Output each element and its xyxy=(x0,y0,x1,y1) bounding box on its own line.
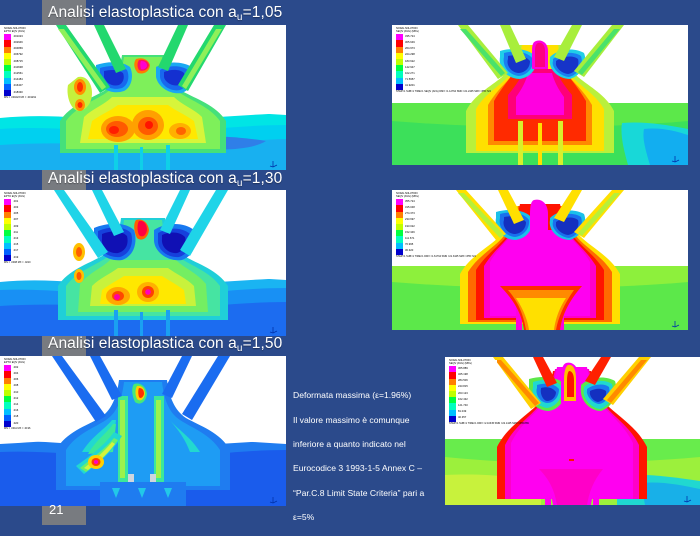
legend-value: 81.049 xyxy=(458,411,466,414)
legend-value: .013 xyxy=(13,238,18,241)
legend-swatch xyxy=(396,84,403,90)
axis-triad-icon xyxy=(671,315,680,324)
deformation-note-block: Deformata massima (ε=1.96%) Il valore ma… xyxy=(293,377,443,536)
note-line-5: “Par.C.8 Limit State Criteria” pari a xyxy=(293,487,443,499)
legend-value: .006 xyxy=(13,379,18,382)
legend-rows: .001 .003 .005 .007 .009 .011 .013 .015 … xyxy=(4,199,44,261)
legend-value: 162.432 xyxy=(458,399,468,402)
legend-value: 142.947 xyxy=(405,67,415,70)
legend-row: 30.320 xyxy=(396,249,444,255)
page-number: 21 xyxy=(49,502,63,517)
legend-row: 40.357 xyxy=(449,416,497,422)
legend-subtitle: EPTO EQV (AVG) xyxy=(4,362,44,365)
legend-value: .014 xyxy=(13,404,18,407)
legend-value: .003 xyxy=(13,207,18,210)
legend-value: 233.697 xyxy=(405,219,415,222)
legend-value: .002946 xyxy=(13,42,23,45)
note-line-6: ε=5% xyxy=(293,511,443,523)
legend-rows: 355.724 315.048 274.373 233.697 193.022 … xyxy=(396,199,444,255)
legend-value: 325.198 xyxy=(458,374,468,377)
legend-value: 203.123 xyxy=(458,393,468,396)
legend-value: .007 xyxy=(13,219,18,222)
legend-value: 243.815 xyxy=(458,386,468,389)
legend-value: .010638 xyxy=(13,67,23,70)
note-line-1: Deformata massima (ε=1.96%) xyxy=(293,389,443,401)
legend-value: .011 xyxy=(13,232,18,235)
legend-subtitle: EPTO EQV (AVG) xyxy=(4,31,44,34)
legend-subtitle: SEQV (AVG) (MPa) xyxy=(396,196,444,199)
note-line-3: inferiore a quanto indicato nel xyxy=(293,438,443,450)
slide-title-row1: Analisi elastoplastica con au=1,05 xyxy=(48,4,282,23)
legend-value: .001023 xyxy=(13,36,23,39)
legend-stress-au-150: NODAL SOLUTION SEQV (AVG) (MPa) 365.889 … xyxy=(449,360,497,425)
legend-value: .017 xyxy=(13,250,18,253)
legend-value: 274.373 xyxy=(405,213,415,216)
legend-subtitle: SEQV (AVG) (MPa) xyxy=(396,31,444,34)
legend-strain-au-105: NODAL SOLUTION EPTO EQV (AVG) .001023 .0… xyxy=(4,28,44,100)
legend-value: .008715 xyxy=(13,61,23,64)
legend-stress-au-105: NODAL SOLUTION SEQV (AVG) (MPa) 335.724 … xyxy=(396,28,444,93)
legend-value: 315.048 xyxy=(405,207,415,210)
legend-value: .005 xyxy=(13,213,18,216)
note-line-2: Il valore massimo è comunque xyxy=(293,414,443,426)
axis-triad-icon xyxy=(269,491,278,500)
legend-value: .002 xyxy=(13,367,18,370)
legend-value: .004 xyxy=(13,373,18,376)
axis-triad-icon xyxy=(269,321,278,330)
legend-value: .016407 xyxy=(13,85,23,88)
legend-value: 111.671 xyxy=(405,238,414,241)
legend-value: 102.271 xyxy=(405,73,415,76)
legend-value: 335.724 xyxy=(405,36,415,39)
legend-value: 121.740 xyxy=(458,405,468,408)
legend-value: .015 xyxy=(13,244,18,247)
axis-triad-icon xyxy=(683,490,692,499)
axis-triad-icon xyxy=(269,155,278,164)
legend-footer: MN = .001023 MX = .019291 xyxy=(4,97,44,100)
legend-value: 284.506 xyxy=(458,380,468,383)
legend-value: 152.346 xyxy=(405,232,415,235)
legend-value: 183.622 xyxy=(405,61,415,64)
slide-title-row3: Analisi elastoplastica con au=1,50 xyxy=(48,335,282,354)
legend-value: .001 xyxy=(13,201,18,204)
legend-value: 40.357 xyxy=(458,417,466,420)
legend-rows: .002 .004 .006 .008 .010 .012 .014 .016 … xyxy=(4,365,44,427)
legend-value: 193.022 xyxy=(405,226,415,229)
legend-value: 305.649 xyxy=(405,42,415,45)
legend-footer: STEP=1 SUB=1 TIME=1 DMX =1.61764 SMN =21… xyxy=(396,256,444,259)
legend-value: 355.724 xyxy=(405,201,415,204)
legend-swatch xyxy=(449,416,456,422)
legend-value: 41.9201 xyxy=(405,85,415,88)
legend-value: .014484 xyxy=(13,79,23,82)
legend-value: 224.298 xyxy=(405,54,415,57)
legend-rows: 335.724 305.649 264.973 224.298 183.622 … xyxy=(396,34,444,90)
legend-value: .009 xyxy=(13,226,18,229)
legend-value: .004869 xyxy=(13,48,23,51)
legend-value: .010 xyxy=(13,392,18,395)
legend-value: 365.889 xyxy=(458,368,468,371)
legend-value: .006792 xyxy=(13,54,23,57)
slide-title-row2: Analisi elastoplastica con au=1,30 xyxy=(48,170,282,189)
legend-value: .020 xyxy=(13,423,18,426)
legend-subtitle: SEQV (AVG) (MPa) xyxy=(449,363,497,366)
legend-strain-au-130: NODAL SOLUTION EPTO EQV (AVG) .001 .003 … xyxy=(4,193,44,265)
legend-value: .018 xyxy=(13,416,18,419)
legend-footer: MN = .0008 MX = .0210 xyxy=(4,262,44,265)
legend-value: 30.320 xyxy=(405,250,413,253)
legend-value: 264.973 xyxy=(405,48,415,51)
legend-footer: STEP=1 SUB=1 TIME=1 SEQV (AVG) DMX =1.12… xyxy=(396,91,444,94)
legend-value: .012 xyxy=(13,398,18,401)
legend-swatch xyxy=(396,249,403,255)
legend-footer: MN = .0011 MX = .0196 xyxy=(4,428,44,431)
legend-row: 41.9201 xyxy=(396,84,444,90)
note-line-4: Eurocodice 3 1993-1-5 Annex C – xyxy=(293,462,443,474)
legend-value: 70.995 xyxy=(405,244,413,247)
legend-value: 71.5957 xyxy=(405,79,415,82)
legend-strain-au-150: NODAL SOLUTION EPTO EQV (AVG) .002 .004 … xyxy=(4,359,44,431)
slide-canvas: Analisi elastoplastica con au=1,05 xyxy=(0,0,700,525)
legend-footer: STEP=1 SUB=1 TIME=1 DMX =2.10345 SMN =22… xyxy=(449,423,497,426)
legend-rows: .001023 .002946 .004869 .006792 .008715 … xyxy=(4,34,44,96)
legend-value: .018330 xyxy=(13,92,23,95)
legend-value: .008 xyxy=(13,385,18,388)
legend-value: .016 xyxy=(13,410,18,413)
legend-rows: 365.889 325.198 284.506 243.815 203.123 … xyxy=(449,366,497,422)
legend-subtitle: EPTO EQV (AVG) xyxy=(4,196,44,199)
legend-value: .012561 xyxy=(13,73,23,76)
legend-value: .019 xyxy=(13,257,18,260)
legend-stress-au-130: NODAL SOLUTION SEQV (AVG) (MPa) 355.724 … xyxy=(396,193,444,258)
axis-triad-icon xyxy=(671,150,680,159)
